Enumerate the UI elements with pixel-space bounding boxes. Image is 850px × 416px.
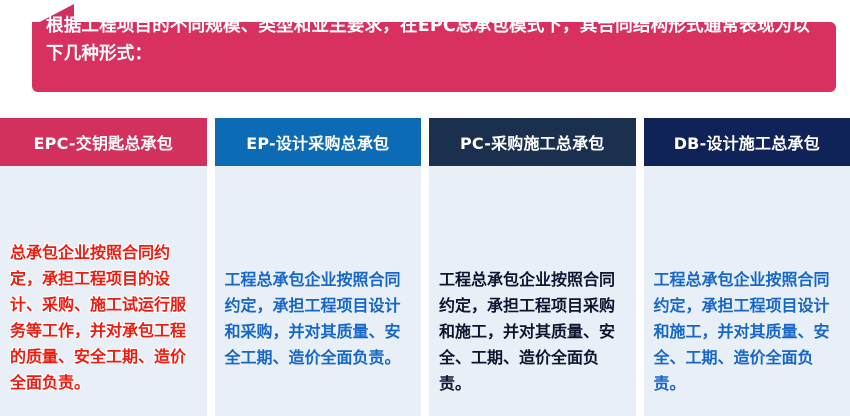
column-header-db: DB-设计施工总承包 [644, 118, 850, 166]
column-body-ep: 工程总承包企业按照合同约定，承担工程项目设计和采购，并对其质量、安全工期、造价全… [215, 166, 422, 416]
column-body-epc: 总承包企业按照合同约定，承担工程项目的设计、采购、施工试运行服务等工作，并对承包… [0, 166, 207, 416]
column-body-db: 工程总承包企业按照合同约定，承担工程项目设计和施工，并对其质量、安全、工期、造价… [644, 166, 850, 416]
slide-root: 根据工程项目的不同规模、类型和业主要求，在EPC总承包模式下，其合同结构形式通常… [0, 0, 850, 416]
banner-title-text: 根据工程项目的不同规模、类型和业主要求，在EPC总承包模式下，其合同结构形式通常… [46, 12, 826, 68]
column-epc: EPC-交钥匙总承包 总承包企业按照合同约定，承担工程项目的设计、采购、施工试运… [0, 118, 207, 416]
column-header-ep: EP-设计采购总承包 [215, 118, 422, 166]
header-banner: 根据工程项目的不同规模、类型和业主要求，在EPC总承包模式下，其合同结构形式通常… [32, 4, 836, 92]
column-db: DB-设计施工总承包 工程总承包企业按照合同约定，承担工程项目设计和施工，并对其… [644, 118, 850, 416]
column-header-pc: PC-采购施工总承包 [429, 118, 636, 166]
column-body-pc: 工程总承包企业按照合同约定，承担工程项目采购和施工，并对其质量、安全、工期、造价… [429, 166, 636, 416]
column-header-epc: EPC-交钥匙总承包 [0, 118, 207, 166]
column-pc: PC-采购施工总承包 工程总承包企业按照合同约定，承担工程项目采购和施工，并对其… [429, 118, 636, 416]
contract-type-columns: EPC-交钥匙总承包 总承包企业按照合同约定，承担工程项目的设计、采购、施工试运… [0, 118, 850, 416]
column-ep: EP-设计采购总承包 工程总承包企业按照合同约定，承担工程项目设计和采购，并对其… [215, 118, 422, 416]
